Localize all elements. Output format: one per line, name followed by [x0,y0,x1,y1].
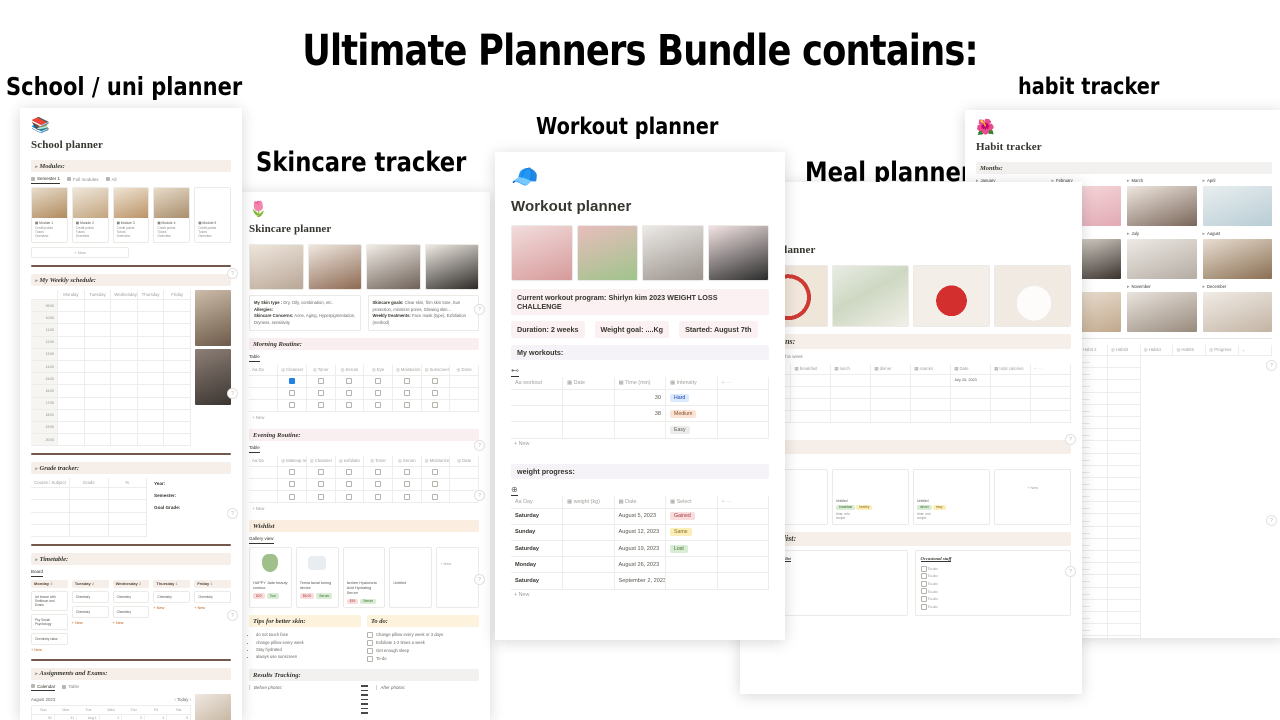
calendar-month-label: August 2023 [31,697,55,702]
recipe-card[interactable]: Untitleddinner easytime: minrecipe [913,469,990,525]
skincare-photo[interactable] [249,244,304,290]
meal-photo[interactable] [832,265,909,327]
assignments-heading: ▸Assignments and Exams: [31,668,231,680]
calendar-dayname: Mon [55,706,78,715]
habit-month-photo[interactable] [1127,239,1197,279]
calendar-dayname: Sat [167,706,190,715]
calendar-day[interactable]: 31 [55,715,78,720]
duration-chip: Duration: 2 weeks [511,321,585,338]
calendar-dayname: Wed [100,706,123,715]
timetable-add-card[interactable]: + New [113,621,150,625]
help-icon[interactable]: ? [474,304,485,315]
timetable-column[interactable]: Thursday 1Chemistry+ New [153,580,190,652]
grocery-item[interactable]: To-do [921,588,1066,596]
checkbox[interactable] [318,481,324,487]
todo-heading: To do: [367,615,479,627]
help-icon[interactable]: ? [1266,515,1277,526]
help-icon[interactable]: ? [227,508,238,519]
module-card[interactable]: ▦ Module 1Credit pointsTutorsOverview [31,187,68,244]
timetable-heading: ▸Timetable: [31,553,231,565]
checkbox[interactable] [318,469,324,475]
divider [31,453,231,455]
checkbox[interactable] [404,378,410,384]
checkbox[interactable] [432,469,438,475]
checkbox[interactable] [289,481,295,487]
grade-fields: Year:Semester:Goal Grade: [154,478,231,537]
grocery-item[interactable]: To-do [921,603,1066,611]
timetable-column-header: Monday 3 [31,580,68,588]
habit-month-photo[interactable] [1203,292,1273,332]
checkbox[interactable] [921,566,927,572]
timetable-card[interactable]: Chemistry class [31,633,68,645]
workout-photo[interactable] [708,225,770,281]
checkbox[interactable] [346,402,352,408]
todo-item[interactable]: Get enough sleep [367,647,479,655]
weight-progress-heading: weight progress: [511,464,769,479]
habit-month-cell[interactable]: ▸March [1127,178,1197,226]
checkbox[interactable] [404,494,410,500]
tab-semester-1[interactable]: Semester 1 [31,176,60,184]
collapse-arrow-icon[interactable]: ▸ [35,279,38,284]
evening-routine-heading: Evening Routine: [249,429,479,441]
checkbox[interactable] [318,402,324,408]
timetable-card[interactable]: Art lesson with Smithson and Evans [31,591,68,611]
weight-new-row[interactable]: + New [511,590,769,601]
grocery-lists[interactable]: Everyday weeklist To-do To-do To-do To-d… [751,550,1071,617]
calendar-day[interactable]: 2 [100,715,123,720]
checkbox[interactable] [289,390,295,396]
grade-tracker-table[interactable]: Course / SubjectGrade% [31,478,147,537]
checkbox[interactable] [375,481,381,487]
timetable-board[interactable]: Monday 3Art lesson with Smithson and Eva… [31,580,231,652]
module-card[interactable]: ▦ Module 2Credit pointsTutorsOverview [72,187,109,244]
checkbox[interactable] [921,604,927,610]
tab-all[interactable]: All [106,176,117,184]
checkbox[interactable] [346,378,352,384]
timetable-column-header: Thursday 1 [153,580,190,588]
checkbox[interactable] [289,469,295,475]
calendar-today-button[interactable]: ‹ Today › [174,697,191,702]
started-chip: Started: August 7th [679,321,757,338]
calendar-dayname: Sun [32,706,55,715]
todo-item[interactable]: To-do [367,655,479,663]
habit-month-photo[interactable] [1203,239,1273,279]
tab-gallery-view[interactable]: Gallery view [249,536,274,544]
timetable-card[interactable]: Chemistry [113,606,150,618]
calendar-day[interactable]: 5 [167,715,190,720]
help-icon[interactable]: ? [1065,566,1076,577]
checkbox[interactable] [432,390,438,396]
collapse-arrow-icon[interactable]: ▸ [35,165,38,170]
page-title: Ultimate Planners Bundle contains: [115,26,1165,76]
timetable-add-card[interactable]: + New [31,648,68,652]
wishlist-card[interactable]: Isntree Hyaluronic Acid Hydrating Serum$… [343,547,386,609]
checkbox[interactable] [346,494,352,500]
skin-profile-right: Skincare goals: Clear skin, firm skin to… [368,295,480,331]
evening-routine-table[interactable]: Aa Do◎ Makeup remover◎ Cleanser◎ exfolia… [249,456,479,504]
assignments-calendar[interactable]: SunMonTueWedThuFriSat 3031Aug 12345678Un… [31,705,191,720]
checkbox[interactable] [367,648,373,654]
checkbox[interactable] [404,469,410,475]
checkbox[interactable] [432,481,438,487]
divider [31,659,231,661]
checkbox[interactable] [367,632,373,638]
habit-month-label: ▸November [1127,284,1197,290]
meal-planner-panel[interactable]: Meal planner Meal plans: MonthThis week … [740,182,1082,694]
tip-item: always use sunscreen [256,653,361,660]
habit-month-photo[interactable] [1203,186,1273,226]
weight-progress-table[interactable]: Aa Day▦ weight (kg)▦ Date▦ Select+ ···Sa… [511,496,769,590]
divider [31,265,231,267]
habit-month-label: ▸August [1203,231,1273,237]
checkbox[interactable] [404,402,410,408]
habit-month-cell[interactable]: ▸July [1127,231,1197,279]
help-icon[interactable]: ? [474,490,485,501]
poster-canvas: Ultimate Planners Bundle contains: Schoo… [0,0,1280,720]
checkbox[interactable] [404,390,410,396]
module-card[interactable]: ▦ Module 4Credit pointsTutorsOverview [153,187,190,244]
grocery-heading: Grocery list: [751,532,1071,546]
checkbox[interactable] [375,469,381,475]
assignments-tabs[interactable]: CalendarTable [31,684,231,692]
checkbox[interactable] [921,581,927,587]
timetable-card[interactable]: Chemistry [153,591,190,603]
tips-list: do not touch facechange pillow every wee… [249,631,361,660]
morning-new-row[interactable]: + New [249,412,479,422]
help-icon[interactable]: ? [227,388,238,399]
recipe-card[interactable]: Untitledbreakfast healthytime: minrecipe [832,469,909,525]
current-program: Current workout program: Shirlyn kim 202… [511,289,769,315]
assignment-photo[interactable] [195,694,231,720]
habit-month-cell[interactable]: ▸April [1203,178,1273,226]
habit-month-cell[interactable]: ▸December [1203,284,1273,332]
meal-photo[interactable] [994,265,1071,327]
grocery-item[interactable]: To-do [921,565,1066,573]
calendar-day[interactable]: 4 [145,715,168,720]
checkbox[interactable] [404,481,410,487]
checkbox[interactable] [432,402,438,408]
help-icon[interactable]: ? [227,610,238,621]
checkbox[interactable] [318,494,324,500]
skincare-planner-panel[interactable]: 🌷 Skincare planner My Skin type : Dry, O… [238,192,490,720]
wishlist-heading: Wishlist [249,520,479,532]
schedule-photo[interactable] [195,349,231,405]
wishlist-card[interactable]: Temia facial toning device$8.00Serum [296,547,339,609]
todo-item[interactable]: Change pillow every week or 3 days [367,631,479,639]
checkbox[interactable] [346,390,352,396]
tip-item: Stay hydrated [256,646,361,653]
meal-title: Meal planner [751,244,1071,256]
module-card[interactable]: ▦ Module 5Credit pointsTutorsOverview [194,187,231,244]
tab-table[interactable]: Table [249,445,260,453]
books-icon: 📚 [31,118,231,133]
calendar-dayname: Tue [77,706,100,715]
label-habit-tracker: habit tracker [1018,74,1159,100]
meal-plans-count: COUNT 4 [751,423,1071,433]
label-school-planner: School / uni planner [6,72,242,101]
calendar-day[interactable]: 30 [32,715,55,720]
cap-icon: 🧢 [511,166,769,188]
tips-heading: Tips for better skin: [249,615,361,627]
habit-month-label: ▸July [1127,231,1197,237]
calendar-dayname: Fri [145,706,168,715]
wishlist-gallery[interactable]: HAPPY Jade beauty contour$20ToolTemia fa… [249,547,479,609]
wishlist-card[interactable]: HAPPY Jade beauty contour$20Tool [249,547,292,609]
habit-month-cell[interactable]: ▸August [1203,231,1273,279]
meal-plans-table[interactable]: ▦ breakfast▦ lunch▦ dinner▦ snacks▦ Date… [751,364,1071,424]
grocery-item[interactable]: To-do [921,572,1066,580]
tab-full-modules[interactable]: Full modules [67,176,99,184]
tulip-icon: 🌷 [249,202,479,217]
checkbox[interactable] [367,640,373,646]
divider [31,544,231,546]
skincare-photo[interactable] [366,244,421,290]
tab-table[interactable]: Table [62,684,79,692]
collapse-arrow-icon[interactable]: ▸ [35,672,38,677]
checkbox[interactable] [367,656,373,662]
wishlist-card[interactable]: Untitled [389,547,432,609]
habit-month-label: ▸December [1203,284,1273,290]
modules-new-button[interactable]: + New [31,247,129,258]
collapse-arrow-icon[interactable]: ▸ [35,558,38,563]
checkbox[interactable] [346,469,352,475]
calendar-day[interactable]: Aug 1 [77,715,100,720]
school-planner-panel[interactable]: 📚 School planner ▸Modules: Semester 1Ful… [20,108,242,720]
my-workouts-heading: My workouts: [511,345,769,360]
workout-photo[interactable] [511,225,573,281]
weekly-schedule-heading: ▸My Weekly schedule: [31,274,231,286]
calendar-dayname: Thu [122,706,145,715]
timetable-column-header: Tuesday 2 [72,580,109,588]
before-photos-label: Before photos: [249,685,353,690]
label-skincare-tracker: Skincare tracker [256,147,466,178]
modules-gallery[interactable]: ▦ Module 1Credit pointsTutorsOverview▦ M… [31,187,231,244]
module-card[interactable]: ▦ Module 3Credit pointsTutorsOverview [113,187,150,244]
school-title: School planner [31,139,231,151]
modules-tabs[interactable]: Semester 1Full modulesAll [31,176,231,184]
todo-item[interactable]: Exfoliate 1-2 times a week [367,639,479,647]
weekly-schedule-table[interactable]: MondayTuesdayWednesdayThursdayFriday09:0… [31,290,191,446]
workouts-table[interactable]: Aa workout▦ Date▦ Time (min)▦ Intensity+… [511,377,769,439]
help-icon[interactable]: ? [1266,360,1277,371]
workouts-new-row[interactable]: + New [511,439,769,450]
habit-month-label: ▸April [1203,178,1273,184]
workout-photo[interactable] [577,225,639,281]
workout-gallery[interactable] [511,225,769,281]
evening-new-row[interactable]: + New [249,503,479,513]
timetable-column[interactable]: Wednesday 2ChemistryChemistry+ New [113,580,150,652]
database-icon[interactable]: ⊕ [511,485,518,496]
after-photos-label: After photos: [376,685,480,690]
tip-item: change pillow every week [256,639,361,646]
skincare-gallery[interactable] [249,244,479,290]
recipes-heading: Recipes: [751,440,1071,454]
checkbox[interactable] [375,390,381,396]
checkbox[interactable] [921,588,927,594]
timetable-card[interactable]: Chemistry [113,591,150,603]
skincare-photo[interactable] [308,244,363,290]
meal-photo[interactable] [913,265,990,327]
timetable-add-card[interactable]: + New [153,606,190,610]
timetable-column[interactable]: Tuesday 2ChemistryChemistry+ New [72,580,109,652]
checkbox[interactable] [432,378,438,384]
habit-month-photo[interactable] [1127,292,1197,332]
database-icon[interactable]: ⊷ [511,366,519,377]
help-icon[interactable]: ? [474,440,485,451]
skincare-photo[interactable] [425,244,480,290]
habit-month-photo[interactable] [1127,186,1197,226]
timetable-column[interactable]: Friday 1Chemistry+ New [194,580,231,652]
results-tracking-heading: Results Tracking: [249,669,479,681]
help-icon[interactable]: ? [227,268,238,279]
checkbox[interactable] [318,378,324,384]
meal-gallery[interactable] [751,265,1071,327]
recipes-gallery[interactable]: UntitledUntitledbreakfast healthytime: m… [751,469,1071,525]
checkbox[interactable] [289,402,295,408]
timetable-card[interactable]: Chemistry [72,591,109,603]
checkbox[interactable] [375,402,381,408]
meal-plans-heading: Meal plans: [751,334,1071,349]
checkbox[interactable] [432,494,438,500]
habit-title: Habit tracker [976,141,1272,153]
timetable-add-card[interactable]: + New [72,621,109,625]
skincare-title: Skincare planner [249,223,479,235]
checkbox[interactable] [375,494,381,500]
collapse-arrow-icon[interactable]: ▸ [35,467,38,472]
tip-item: do not touch face [256,631,361,638]
timetable-card[interactable]: Chemistry [72,606,109,618]
help-icon[interactable]: ? [474,574,485,585]
workout-title: Workout planner [511,198,769,215]
photo-divider [361,685,368,714]
hibiscus-icon: 🌺 [976,120,1272,135]
checkbox[interactable] [289,378,295,384]
tab-table[interactable]: Table [249,354,260,362]
meal-plans-tabs[interactable]: MonthThis week [751,353,1071,361]
checkbox[interactable] [289,494,295,500]
checkbox[interactable] [318,390,324,396]
habit-month-cell[interactable]: ▸November [1127,284,1197,332]
skin-profile-left: My Skin type : Dry, Oily, combination, e… [249,295,361,331]
timetable-column-header: Friday 1 [194,580,231,588]
todo-list[interactable]: Change pillow every week or 3 daysExfoli… [367,631,479,662]
habit-month-label: ▸March [1127,178,1197,184]
schedule-photo[interactable] [195,290,231,346]
tab-calendar[interactable]: Calendar [31,684,55,692]
timetable-card[interactable]: Chemistry [194,591,231,603]
timetable-column-header: Wednesday 2 [113,580,150,588]
checkbox[interactable] [375,378,381,384]
habit-months-heading: Months: [976,162,1272,174]
timetable-add-card[interactable]: + New [194,606,231,610]
help-icon[interactable]: ? [1065,434,1076,445]
timetable-card[interactable]: Psy Social Psychology [31,614,68,630]
timetable-column[interactable]: Monday 3Art lesson with Smithson and Eva… [31,580,68,652]
checkbox[interactable] [921,596,927,602]
modules-heading: ▸Modules: [31,160,231,172]
grocery-card[interactable]: Occasional stuff To-do To-do To-do To-do… [915,550,1072,617]
calendar-day[interactable]: 3 [122,715,145,720]
grade-tracker-heading: ▸Grade tracker: [31,462,231,474]
morning-routine-table[interactable]: Aa Do◎ Cleanser◎ Toner◎ Serum◎ Eye◎ Mois… [249,365,479,413]
workout-planner-panel[interactable]: 🧢 Workout planner Current workout progra… [495,152,785,640]
grocery-item[interactable]: To-do [921,595,1066,603]
morning-routine-heading: Morning Routine: [249,338,479,350]
checkbox[interactable] [346,481,352,487]
weight-goal-chip: Weight goal: ....Kg [595,321,670,338]
grocery-item[interactable]: To-do [921,580,1066,588]
checkbox[interactable] [921,573,927,579]
tab-board[interactable]: Board [31,569,43,577]
workout-photo[interactable] [642,225,704,281]
label-workout-planner: Workout planner [536,114,718,140]
